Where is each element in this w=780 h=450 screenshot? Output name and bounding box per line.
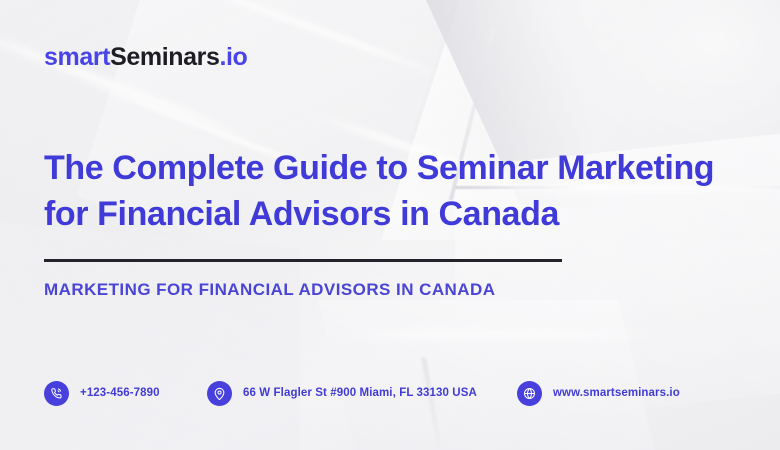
- globe-icon: [517, 381, 542, 406]
- contact-website-label: www.smartseminars.io: [553, 387, 680, 399]
- location-pin-icon: [207, 381, 232, 406]
- contact-item-address[interactable]: 66 W Flagler St #900 Miami, FL 33130 USA: [207, 380, 477, 406]
- phone-icon: [44, 381, 69, 406]
- title-divider: [44, 259, 562, 262]
- page-title: The Complete Guide to Seminar Marketing …: [44, 145, 744, 237]
- logo-text-tld: .io: [219, 43, 247, 71]
- brand-logo: smartSeminars.io: [44, 44, 247, 72]
- contact-item-website[interactable]: www.smartseminars.io: [517, 380, 680, 406]
- contact-address-label: 66 W Flagler St #900 Miami, FL 33130 USA: [243, 387, 477, 399]
- marketing-banner: smartSeminars.io The Complete Guide to S…: [0, 0, 780, 450]
- contact-phone-label: +123-456-7890: [80, 387, 160, 399]
- page-subtitle: MARKETING FOR FINANCIAL ADVISORS IN CANA…: [44, 280, 495, 300]
- contact-item-phone[interactable]: +123-456-7890: [44, 380, 160, 406]
- contact-bar: +123-456-7890 66 W Flagler St #900 Miami…: [44, 380, 744, 406]
- logo-text-seminars: Seminars: [110, 43, 219, 71]
- banner-content: smartSeminars.io The Complete Guide to S…: [0, 0, 780, 450]
- logo-text-smart: smart: [44, 43, 110, 71]
